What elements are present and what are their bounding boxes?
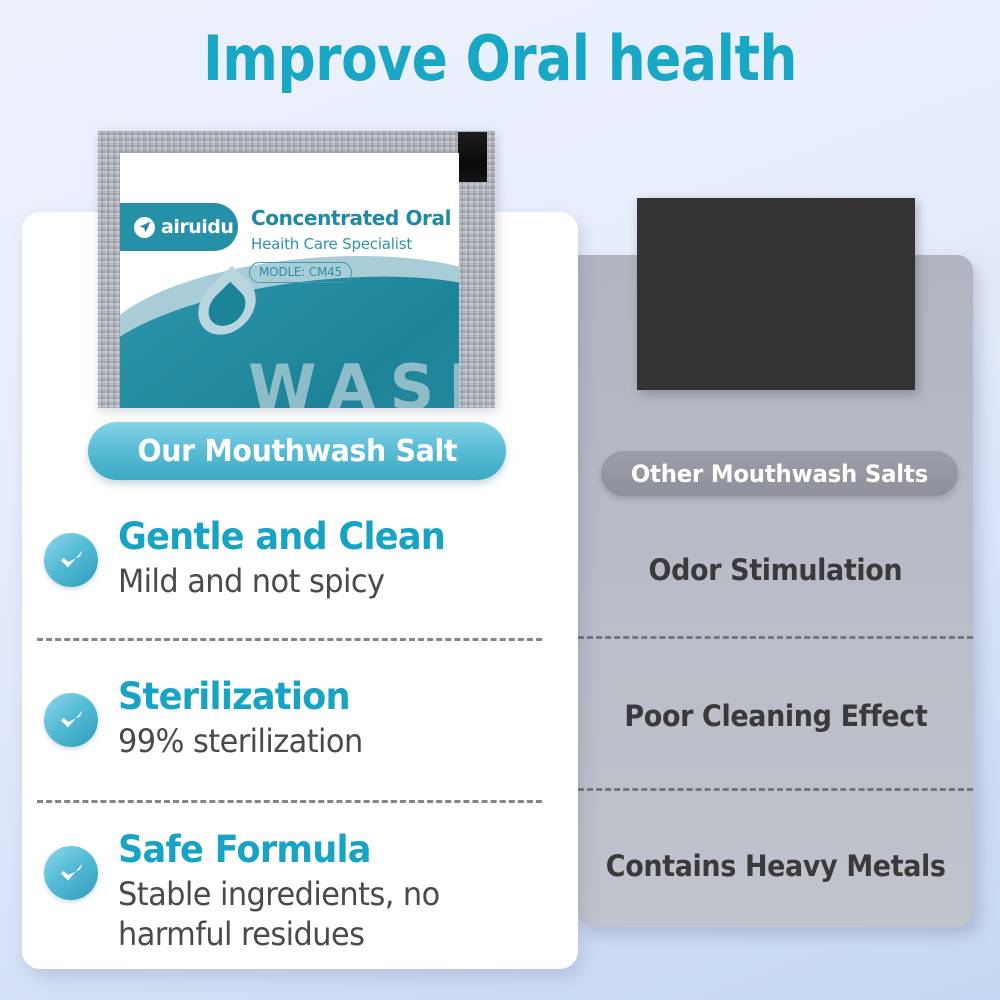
other-drawback-label: Contains Heavy Metals — [606, 849, 946, 883]
infographic-canvas: Improve Oral health Other Mouthwash Salt… — [0, 0, 1000, 1000]
check-circle-icon — [44, 533, 98, 587]
packet-wash-word: WASH — [248, 351, 459, 408]
feature-row: Gentle and Clean Mild and not spicy — [44, 515, 549, 601]
feature-row: Sterilization 99% sterilization — [44, 675, 549, 761]
other-drawback-label: Odor Stimulation — [649, 553, 903, 587]
other-products-badge-label: Other Mouthwash Salts — [631, 460, 928, 488]
check-circle-icon — [44, 693, 98, 747]
packet-model-badge: MODLE: CM45 — [249, 262, 352, 283]
other-product-photo — [637, 198, 915, 390]
product-packet: WASH airuidu Concentrated Oral Salt Heai… — [98, 131, 495, 408]
check-circle-icon — [44, 846, 98, 900]
our-product-badge: Our Mouthwash Salt — [88, 422, 506, 480]
other-drawback-row: Contains Heavy Metals — [578, 838, 973, 894]
other-row-divider — [578, 788, 973, 791]
feature-text-block: Sterilization 99% sterilization — [118, 675, 376, 761]
feature-row: Safe Formula Stable ingredients, no harm… — [44, 828, 549, 954]
packet-title: Concentrated Oral Salt — [251, 206, 459, 230]
feature-title: Gentle and Clean — [118, 515, 445, 559]
packet-label: WASH airuidu Concentrated Oral Salt Heai… — [120, 153, 459, 408]
brand-logo: airuidu — [120, 203, 238, 251]
feature-description: 99% sterilization — [118, 721, 363, 761]
other-row-divider — [578, 636, 973, 639]
packet-subtitle: Heaith Care Specialist — [251, 235, 412, 253]
feature-description: Mild and not spicy — [118, 561, 445, 601]
feature-row-divider — [37, 638, 542, 641]
droplet-plane-logo-icon — [134, 217, 155, 238]
other-drawback-row: Odor Stimulation — [578, 542, 973, 598]
feature-row-divider — [37, 800, 542, 803]
our-product-badge-label: Our Mouthwash Salt — [137, 434, 457, 469]
other-drawback-label: Poor Cleaning Effect — [624, 699, 927, 733]
feature-title: Safe Formula — [118, 828, 527, 872]
feature-text-block: Gentle and Clean Mild and not spicy — [118, 515, 462, 601]
feature-title: Sterilization — [118, 675, 363, 719]
other-products-badge: Other Mouthwash Salts — [601, 451, 958, 496]
other-drawback-row: Poor Cleaning Effect — [578, 688, 973, 744]
brand-name: airuidu — [161, 216, 233, 238]
feature-description: Stable ingredients, no harmful residues — [118, 874, 527, 954]
page-title: Improve Oral health — [70, 22, 930, 95]
feature-text-block: Safe Formula Stable ingredients, no harm… — [118, 828, 548, 954]
packet-tear-notch — [458, 132, 487, 182]
